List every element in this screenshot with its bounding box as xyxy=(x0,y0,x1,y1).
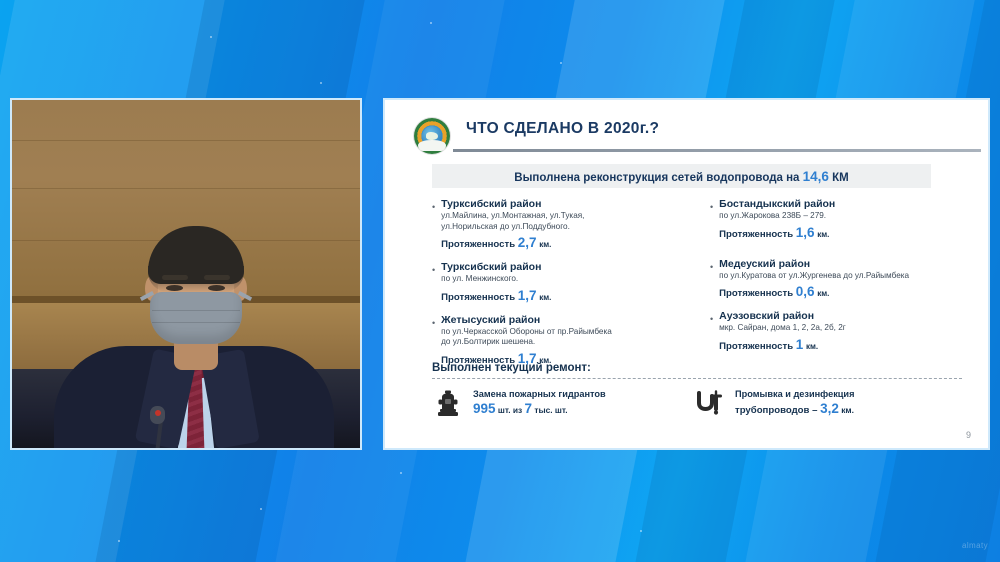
length-label: Протяженность xyxy=(719,341,793,352)
banner-prefix: Выполнена реконструкция сетей водопровод… xyxy=(514,172,802,184)
length-readout: Протяженность 1,7 км. xyxy=(441,288,684,303)
hydrant-stat-text: Замена пожарных гидрантов 995 шт. из 7 т… xyxy=(473,388,694,418)
bullet-marker: • xyxy=(710,310,713,352)
section-divider xyxy=(432,378,962,379)
districts-columns: • Турксибский район ул.Майлина, ул.Монта… xyxy=(432,198,962,377)
district-name: Турксибский район xyxy=(441,198,684,210)
backdrop-sparkle xyxy=(118,540,120,542)
district-name: Жетысуский район xyxy=(441,314,684,326)
fire-hydrant-icon xyxy=(432,388,464,418)
list-item-body: Жетысуский район по ул.Черкасской Оборон… xyxy=(441,314,684,366)
pipe-flush-stat-cell: Промывка и дезинфекция трубопроводов – 3… xyxy=(694,388,854,418)
bullet-marker: • xyxy=(432,314,435,366)
pipe-flush-value: трубопроводов – 3,2 км. xyxy=(735,402,854,418)
slide-page-number: 9 xyxy=(966,430,971,440)
banner-highlight-value: 14,6 xyxy=(803,169,829,184)
banner-suffix: КМ xyxy=(829,172,849,184)
pipe-flush-label: Промывка и дезинфекция xyxy=(735,388,854,400)
list-item-body: Турксибский район ул.Майлина, ул.Монтажн… xyxy=(441,198,684,250)
length-unit: км. xyxy=(817,230,829,239)
backdrop-sparkle xyxy=(400,472,402,474)
length-value: 2,7 xyxy=(518,235,537,250)
hydrant-total: 7 xyxy=(525,401,533,416)
hydrant-count: 995 xyxy=(473,401,496,416)
bullet-marker: • xyxy=(432,261,435,303)
pipe-flush-stat-text: Промывка и дезинфекция трубопроводов – 3… xyxy=(735,388,854,418)
microphone-indicator-light xyxy=(155,410,161,416)
list-item-body: Медеуский район по ул.Куратова от ул.Жур… xyxy=(719,258,962,300)
length-value: 1 xyxy=(796,337,804,352)
slide-header: ЧТО СДЕЛАНО В 2020г.? xyxy=(385,114,988,158)
city-emblem-icon xyxy=(414,118,450,154)
districts-column-left: • Турксибский район ул.Майлина, ул.Монта… xyxy=(432,198,684,377)
repairs-row: Замена пожарных гидрантов 995 шт. из 7 т… xyxy=(432,388,962,418)
district-name: Бостандыкский район xyxy=(719,198,962,210)
list-item: • Бостандыкский район по ул.Жарокова 238… xyxy=(710,198,962,240)
list-item-body: Турксибский район по ул. Менжинского. Пр… xyxy=(441,261,684,303)
hydrant-tail-text: тыс. шт. xyxy=(532,405,568,415)
district-address: по ул.Жарокова 238Б – 279. xyxy=(719,211,962,222)
current-repairs-section: Выполнен текущий ремонт: xyxy=(432,362,962,418)
face-mask xyxy=(150,292,242,344)
page-title: ЧТО СДЕЛАНО В 2020г.? xyxy=(466,120,659,138)
list-item-body: Бостандыкский район по ул.Жарокова 238Б … xyxy=(719,198,962,240)
length-readout: Протяженность 0,6 км. xyxy=(719,284,962,299)
list-item: • Жетысуский район по ул.Черкасской Обор… xyxy=(432,314,684,366)
bullet-marker: • xyxy=(710,258,713,300)
eye-right xyxy=(208,285,225,291)
headline-banner: Выполнена реконструкция сетей водопровод… xyxy=(432,164,931,188)
length-value: 1,6 xyxy=(796,225,815,240)
district-address: по ул. Менжинского. xyxy=(441,274,684,285)
backdrop-sparkle xyxy=(320,82,322,84)
length-unit: км. xyxy=(539,240,551,249)
districts-column-right: • Бостандыкский район по ул.Жарокова 238… xyxy=(710,198,962,377)
channel-watermark: almaty xyxy=(962,541,988,550)
list-item: • Медеуский район по ул.Куратова от ул.Ж… xyxy=(710,258,962,300)
speaker-figure xyxy=(100,218,286,448)
backdrop-sparkle xyxy=(210,36,212,38)
pipe-flush-unit: км. xyxy=(839,405,854,415)
video-frame xyxy=(12,100,360,448)
eye-left xyxy=(166,285,183,291)
backdrop-sparkle xyxy=(430,22,432,24)
list-item: • Ауэзовский район мкр. Сайран, дома 1, … xyxy=(710,310,962,352)
list-item: • Турксибский район ул.Майлина, ул.Монта… xyxy=(432,198,684,250)
presentation-slide[interactable]: ЧТО СДЕЛАНО В 2020г.? Выполнена реконстр… xyxy=(383,98,990,450)
backdrop-sparkle xyxy=(260,508,262,510)
bullet-marker: • xyxy=(710,198,713,240)
slide-content: ЧТО СДЕЛАНО В 2020г.? Выполнена реконстр… xyxy=(385,100,988,448)
length-label: Протяженность xyxy=(719,288,793,299)
length-unit: км. xyxy=(817,289,829,298)
length-label: Протяженность xyxy=(441,292,515,303)
title-divider xyxy=(453,149,981,152)
hydrant-stat-value: 995 шт. из 7 тыс. шт. xyxy=(473,402,694,418)
district-address: по ул.Черкасской Обороны от пр.Райымбека… xyxy=(441,327,684,348)
length-label: Протяженность xyxy=(441,239,515,250)
emblem-snow-leopard xyxy=(418,140,446,151)
district-address: ул.Майлина, ул.Монтажная, ул.Тукая, ул.Н… xyxy=(441,211,684,232)
pipe-flush-length: 3,2 xyxy=(820,401,839,416)
pipe-flush-prefix: трубопроводов – xyxy=(735,405,820,416)
backdrop-sparkle xyxy=(640,530,642,532)
district-name: Медеуский район xyxy=(719,258,962,270)
section-heading: Выполнен текущий ремонт: xyxy=(432,362,962,374)
bullet-marker: • xyxy=(432,198,435,250)
backdrop-sparkle xyxy=(560,62,562,64)
length-label: Протяженность xyxy=(719,229,793,240)
length-value: 0,6 xyxy=(796,284,815,299)
length-readout: Протяженность 2,7 км. xyxy=(441,235,684,250)
length-readout: Протяженность 1,6 км. xyxy=(719,225,962,240)
pipe-valve-icon xyxy=(694,388,726,416)
list-item: • Турксибский район по ул. Менжинского. … xyxy=(432,261,684,303)
headline-banner-text: Выполнена реконструкция сетей водопровод… xyxy=(514,169,848,184)
length-unit: км. xyxy=(539,293,551,302)
mask-fold xyxy=(152,322,240,323)
length-readout: Протяженность 1 км. xyxy=(719,337,962,352)
emblem-map-shape xyxy=(426,132,438,140)
district-name: Ауэзовский район xyxy=(719,310,962,322)
list-item-body: Ауэзовский район мкр. Сайран, дома 1, 2,… xyxy=(719,310,962,352)
speaker-video-feed[interactable] xyxy=(10,98,362,450)
length-value: 1,7 xyxy=(518,288,537,303)
eyebrow-right xyxy=(204,275,230,280)
district-address: мкр. Сайран, дома 1, 2, 2а, 2б, 2г xyxy=(719,323,962,334)
hydrant-mid-text: шт. из xyxy=(496,405,525,415)
hydrant-stat-cell: Замена пожарных гидрантов 995 шт. из 7 т… xyxy=(432,388,694,418)
mask-fold xyxy=(152,310,240,311)
eyebrow-left xyxy=(162,275,188,280)
length-unit: км. xyxy=(806,342,818,351)
hydrant-stat-label: Замена пожарных гидрантов xyxy=(473,388,694,400)
district-name: Турксибский район xyxy=(441,261,684,273)
district-address: по ул.Куратова от ул.Жургенева до ул.Рай… xyxy=(719,271,962,282)
